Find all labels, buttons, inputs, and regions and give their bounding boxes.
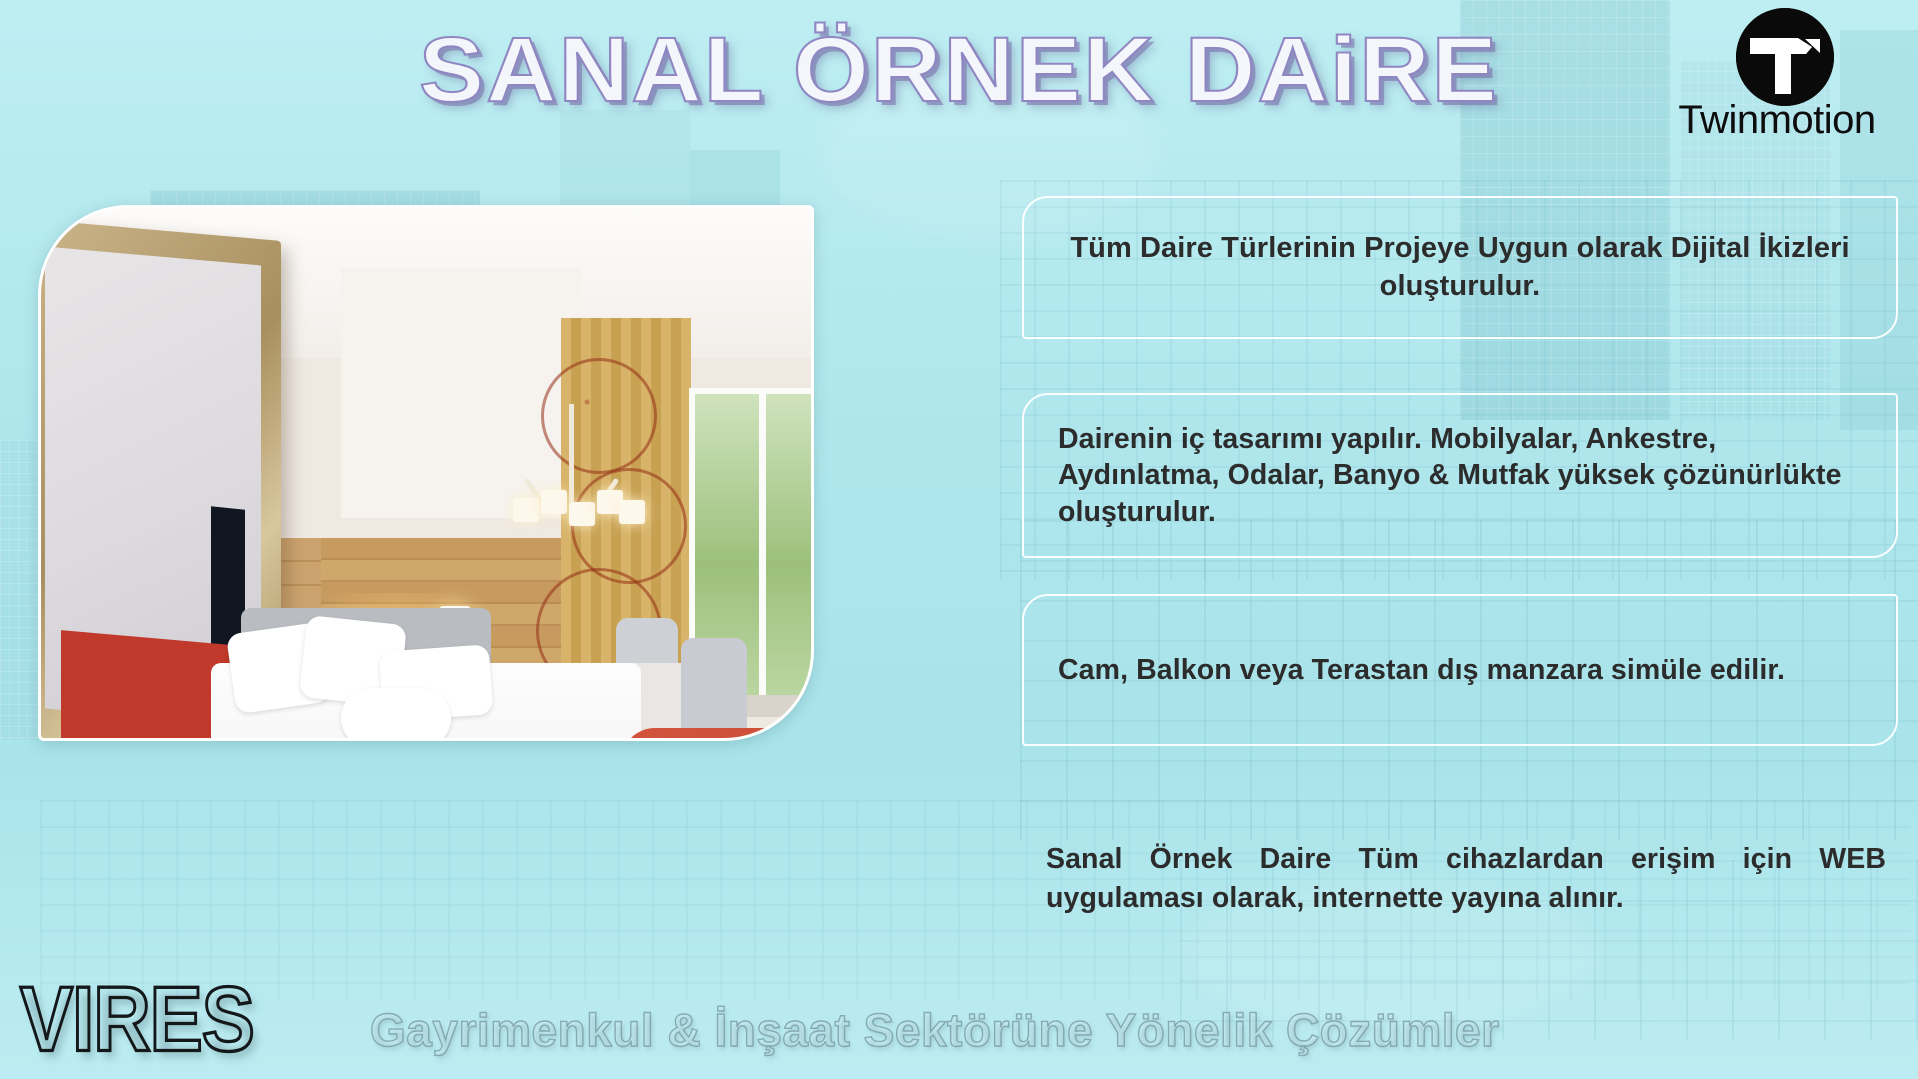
callout-text-4: Sanal Örnek Daire Tüm cihazlardan erişim…	[1046, 840, 1886, 918]
callout-box-2: Dairenin iç tasarımı yapılır. Mobilyalar…	[1022, 393, 1898, 558]
twinmotion-t-icon	[1736, 8, 1834, 106]
callout-box-3: Cam, Balkon veya Terastan dış manzara si…	[1022, 594, 1898, 746]
footer-tagline: Gayrimenkul & İnşaat Sektörüne Yönelik Ç…	[370, 1003, 1500, 1057]
slide-root: SANAL ÖRNEK DAiRE Twinmotion	[0, 0, 1918, 1079]
photo-chandelier-rod	[569, 404, 574, 474]
page-title: SANAL ÖRNEK DAiRE	[0, 18, 1918, 123]
photo-window-mullion	[759, 388, 766, 698]
twinmotion-logo: Twinmotion	[1652, 6, 1902, 142]
photo-chair	[681, 638, 747, 741]
photo-towel-swan	[341, 688, 451, 741]
photo-mirror-tv-reflection	[211, 506, 245, 650]
apartment-photo	[38, 205, 814, 741]
callout-box-1-text: Tüm Daire Türlerinin Projeye Uygun olara…	[1050, 230, 1870, 305]
callout-box-3-text: Cam, Balkon veya Terastan dış manzara si…	[1058, 652, 1785, 688]
twinmotion-wordmark: Twinmotion	[1652, 98, 1902, 143]
photo-chandelier	[511, 466, 631, 536]
vires-logo: VIRES	[20, 968, 254, 1073]
callout-box-2-text: Dairenin iç tasarımı yapılır. Mobilyalar…	[1058, 421, 1862, 530]
callout-box-1: Tüm Daire Türlerinin Projeye Uygun olara…	[1022, 196, 1898, 339]
